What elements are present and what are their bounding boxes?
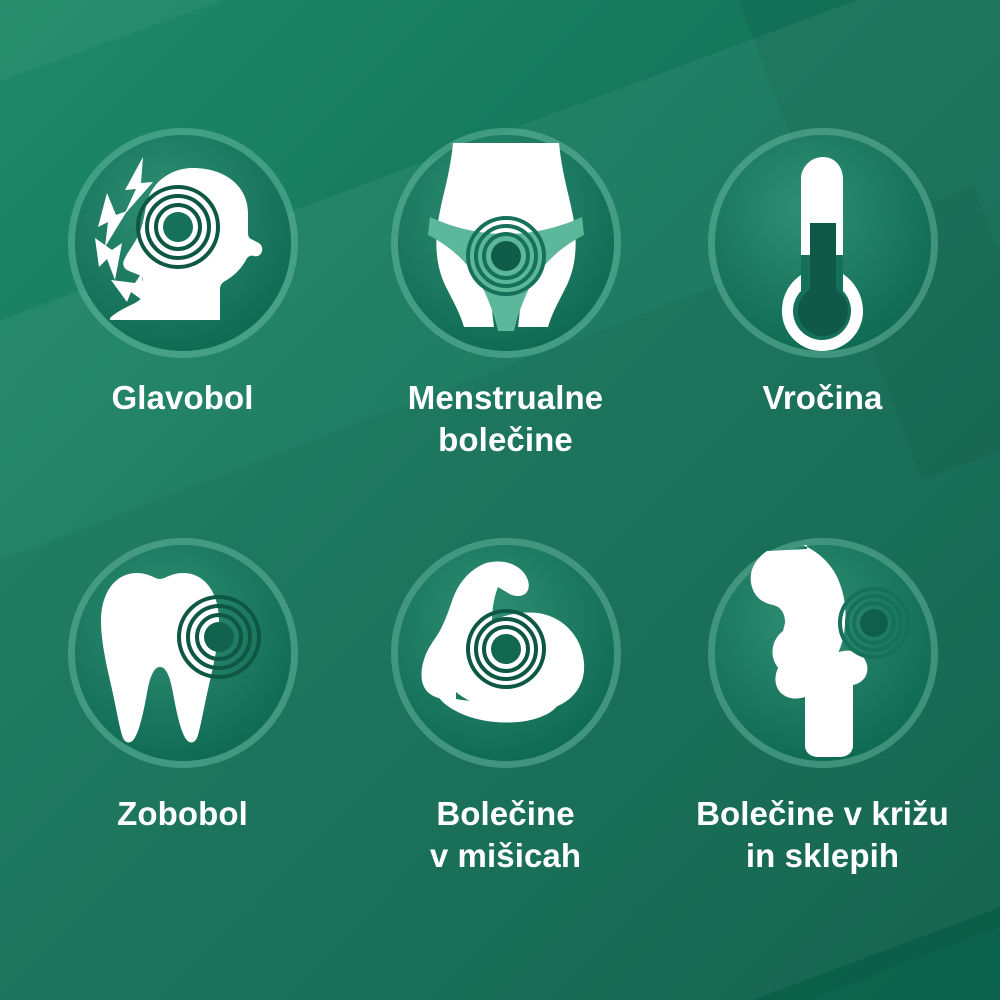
icon-disc-fever (715, 135, 931, 351)
icon-disc-menstrual-pain (398, 135, 614, 351)
knee-joint-icon (715, 545, 931, 761)
tooth-icon (75, 545, 291, 761)
flexed-biceps-icon (398, 545, 614, 761)
lower-abdomen-icon (398, 135, 614, 351)
symptom-infographic-poster: Glavobol (0, 0, 1000, 1000)
thermometer-icon (715, 135, 931, 351)
tibia-bone (775, 651, 867, 757)
symptom-label-menstrual-pain: Menstrualne bolečine (339, 377, 672, 461)
symptom-item-toothache[interactable]: Zobobol (16, 545, 349, 835)
icon-disc-muscle-pain (398, 545, 614, 761)
symptom-item-headache[interactable]: Glavobol (16, 135, 349, 419)
symptom-label-headache: Glavobol (16, 377, 349, 419)
icon-disc-back-joint-pain (715, 545, 931, 761)
pain-marker (840, 589, 908, 657)
symptom-label-muscle-pain: Bolečine v mišicah (339, 793, 672, 877)
head-silhouette (110, 168, 262, 320)
head-pain-icon (75, 135, 291, 351)
symptom-grid: Glavobol (0, 0, 1000, 1000)
symptom-item-menstrual-pain[interactable]: Menstrualne bolečine (339, 135, 672, 461)
icon-disc-headache (75, 135, 291, 351)
symptom-label-toothache: Zobobol (16, 793, 349, 835)
symptom-label-fever: Vročina (656, 377, 989, 419)
molar-tooth (101, 573, 219, 742)
icon-disc-toothache (75, 545, 291, 761)
symptom-label-back-joint-pain: Bolečine v križu in sklepih (656, 793, 989, 877)
symptom-item-fever[interactable]: Vročina (656, 135, 989, 419)
symptom-item-muscle-pain[interactable]: Bolečine v mišicah (339, 545, 672, 877)
symptom-item-back-joint-pain[interactable]: Bolečine v križu in sklepih (656, 545, 989, 877)
